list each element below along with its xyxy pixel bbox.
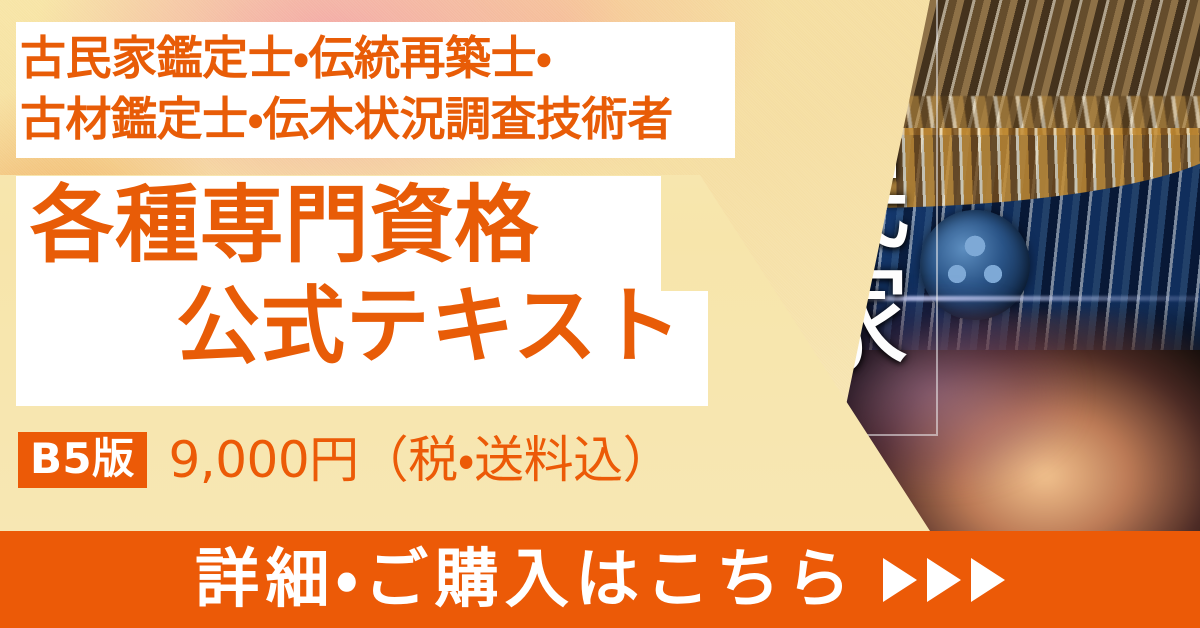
promo-banner: 古民家 伝統構法、 古民家活用のための調査と再生の 古民家鑑定士・伝統再築士・ … bbox=[0, 0, 1200, 628]
cta-arrows bbox=[883, 558, 1005, 602]
arrow-right-icon-2 bbox=[927, 558, 961, 602]
qualifications-line-2: 古材鑑定士・伝木状況調査技術者 bbox=[20, 89, 732, 150]
format-badge: B5版 bbox=[18, 432, 147, 488]
main-headline-line-1: 各種専門資格 bbox=[16, 182, 696, 269]
qualifications-line-1: 古民家鑑定士・伝統再築士・ bbox=[20, 31, 551, 85]
cta-label: 詳細・ご購入はこちら bbox=[195, 548, 857, 612]
main-headline-line-2: 公式テキスト bbox=[16, 283, 696, 370]
cta-button[interactable]: 詳細・ご購入はこちら bbox=[0, 531, 1200, 628]
arrow-right-icon-1 bbox=[883, 558, 917, 602]
qualifications-headline: 古民家鑑定士・伝統再築士・ 古材鑑定士・伝木状況調査技術者 bbox=[20, 28, 732, 149]
main-headline: 各種専門資格 公式テキスト bbox=[16, 182, 696, 371]
price-amount: 9,000円（税・送料込） bbox=[169, 435, 673, 485]
arrow-right-icon-3 bbox=[971, 558, 1005, 602]
price-row: B5版 9,000円（税・送料込） bbox=[18, 428, 672, 492]
